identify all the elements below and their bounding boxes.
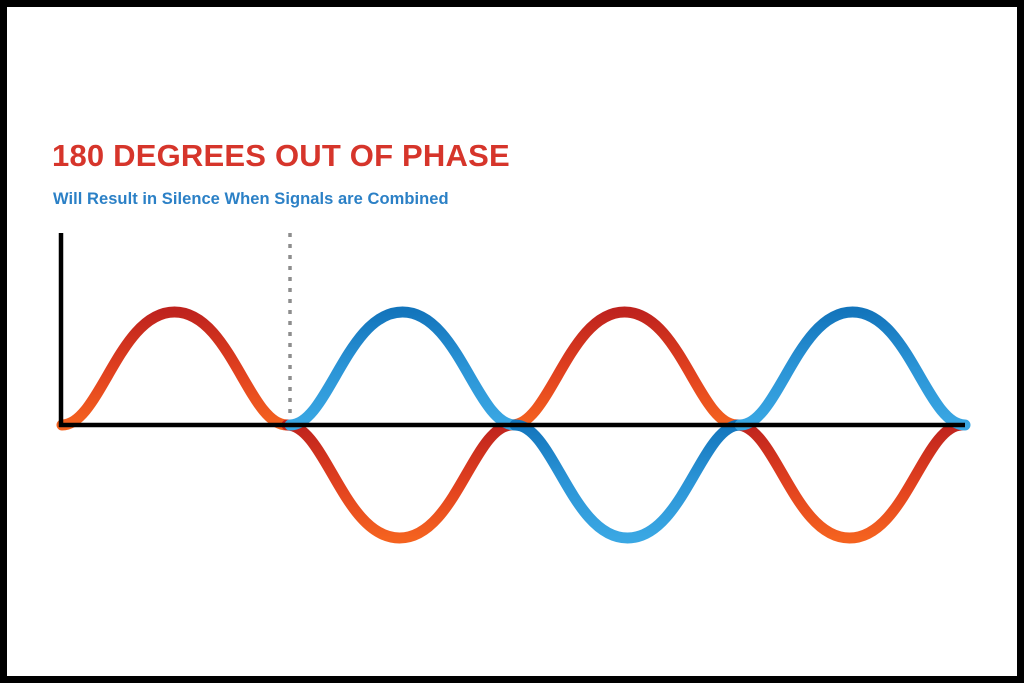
signal-a-trough-1 <box>287 425 512 538</box>
phase-waveform-chart <box>7 7 1017 676</box>
signal-a-trough-2 <box>737 425 962 538</box>
signal-a-hump-1 <box>62 312 287 425</box>
illustration-canvas: 180 DEGREES OUT OF PHASE Will Result in … <box>7 7 1017 676</box>
signal-a-hump-2 <box>512 312 737 425</box>
signal-b-hump-2 <box>740 312 965 425</box>
signal-b-trough-1 <box>515 425 740 538</box>
image-frame: 180 DEGREES OUT OF PHASE Will Result in … <box>0 0 1024 683</box>
signal-b-hump-1 <box>290 312 515 425</box>
